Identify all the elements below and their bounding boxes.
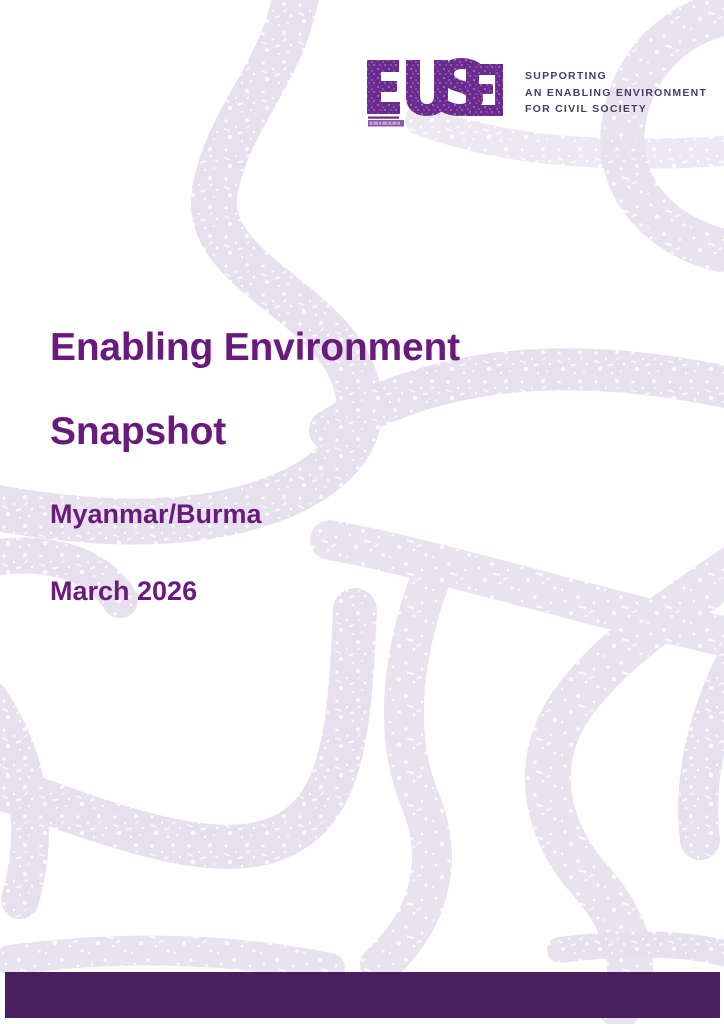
ribbon-far-left: [0, 700, 30, 900]
page-title-line-1: Enabling Environment: [50, 306, 650, 390]
footer-bar: [5, 972, 720, 1018]
cover-page: SUPPORTING AN ENABLING ENVIRONMENT FOR C…: [0, 0, 724, 1024]
ribbon-lower-left: [380, 580, 432, 965]
eu-see-logo-mark: [365, 58, 503, 128]
ribbon-bottom-wedge: [10, 951, 330, 968]
ribbon-right-inner: [698, 600, 724, 840]
ribbon-bottom-right-wedge: [560, 944, 724, 958]
page-subtitle-country: Myanmar/Burma: [50, 474, 650, 554]
logo-tagline-line-3: FOR CIVIL SOCIETY: [525, 101, 707, 118]
logo-underline: [368, 117, 399, 119]
ribbon-top-right: [622, 10, 724, 250]
logo-tagline: SUPPORTING AN ENABLING ENVIRONMENT FOR C…: [525, 68, 707, 118]
page-title-line-2: Snapshot: [50, 390, 650, 474]
cover-title-block: Enabling Environment Snapshot Myanmar/Bu…: [50, 306, 650, 629]
logo-tagline-line-1: SUPPORTING: [525, 68, 707, 85]
ribbon-center-u: [0, 610, 355, 847]
logo-tagline-line-2: AN ENABLING ENVIRONMENT: [525, 85, 707, 102]
page-date: March 2026: [50, 554, 650, 629]
logo-block: SUPPORTING AN ENABLING ENVIRONMENT FOR C…: [365, 58, 707, 128]
logo-microtext: [370, 122, 401, 125]
